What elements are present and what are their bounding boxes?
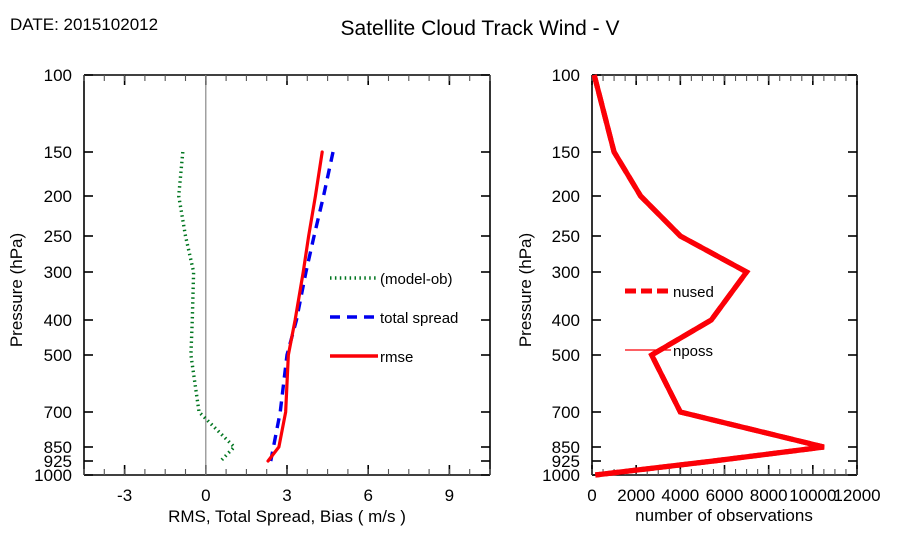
right-panel-y-axis-title: Pressure (hPa) xyxy=(516,233,535,347)
x-tick-label: 12000 xyxy=(833,486,880,505)
y-tick-label: 150 xyxy=(44,143,72,162)
date-label: DATE: 2015102012 xyxy=(10,15,158,34)
y-tick-label: 250 xyxy=(44,227,72,246)
y-tick-label: 500 xyxy=(44,346,72,365)
y-tick-label: 100 xyxy=(552,66,580,85)
x-tick-label: 8000 xyxy=(750,486,788,505)
left-panel-y-axis-title: Pressure (hPa) xyxy=(7,233,26,347)
legend-label--model-ob-: (model-ob) xyxy=(380,271,453,288)
chart-page: DATE: 2015102012 Satellite Cloud Track W… xyxy=(0,0,900,560)
y-tick-label: 500 xyxy=(552,346,580,365)
y-tick-label: 400 xyxy=(44,311,72,330)
figure-canvas: DATE: 2015102012 Satellite Cloud Track W… xyxy=(0,0,900,560)
x-tick-label: -3 xyxy=(117,486,132,505)
y-tick-label: 400 xyxy=(552,311,580,330)
right-panel-x-axis-title: number of observations xyxy=(635,506,813,525)
x-tick-label: 10000 xyxy=(789,486,836,505)
legend-label-rmse: rmse xyxy=(380,349,413,366)
x-tick-label: 0 xyxy=(587,486,596,505)
legend-label-total-spread: total spread xyxy=(380,310,458,327)
x-tick-label: 2000 xyxy=(617,486,655,505)
y-tick-label: 300 xyxy=(552,263,580,282)
x-tick-label: 6000 xyxy=(706,486,744,505)
y-tick-label: 150 xyxy=(552,143,580,162)
legend-label-nposs: nposs xyxy=(673,343,713,360)
x-tick-label: 3 xyxy=(282,486,291,505)
y-tick-label: 100 xyxy=(44,66,72,85)
x-tick-label: 6 xyxy=(363,486,372,505)
legend-label-nused: nused xyxy=(673,284,714,301)
page-title: Satellite Cloud Track Wind - V xyxy=(341,17,620,40)
y-tick-label: 200 xyxy=(552,187,580,206)
x-tick-label: 0 xyxy=(201,486,210,505)
y-tick-label: 200 xyxy=(44,187,72,206)
y-tick-label: 700 xyxy=(44,403,72,422)
x-tick-label: 9 xyxy=(445,486,454,505)
y-tick-label: 1000 xyxy=(542,466,580,485)
y-tick-label: 700 xyxy=(552,403,580,422)
y-tick-label: 1000 xyxy=(34,466,72,485)
y-tick-label: 250 xyxy=(552,227,580,246)
x-tick-label: 4000 xyxy=(661,486,699,505)
left-panel-x-axis-title: RMS, Total Spread, Bias ( m/s ) xyxy=(168,507,406,526)
y-tick-label: 300 xyxy=(44,263,72,282)
